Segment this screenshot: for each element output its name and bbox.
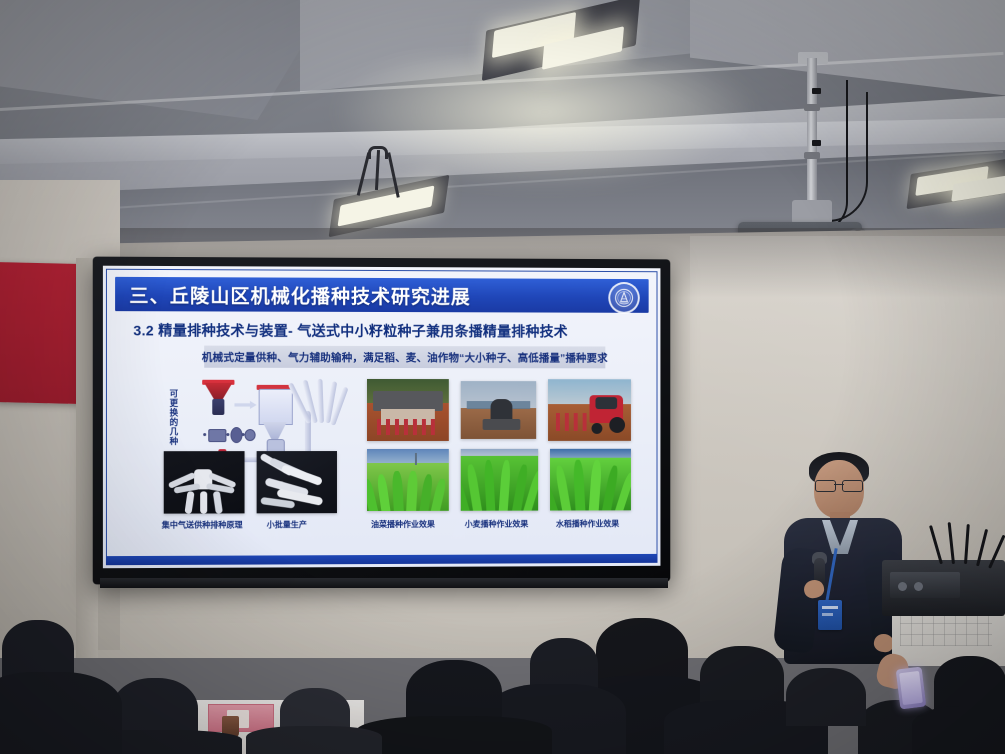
photo-caption: 小批量生产 bbox=[267, 519, 307, 530]
equipment-knob[interactable] bbox=[914, 582, 923, 591]
diagram-label: 可更换的几种 bbox=[168, 389, 179, 446]
photo-field-machine bbox=[461, 381, 536, 439]
photo-rice-field bbox=[550, 449, 631, 511]
projector-yoke bbox=[792, 200, 832, 224]
ceiling-light-glow bbox=[330, 60, 760, 190]
presentation-slide: 三、丘陵山区机械化播种技术研究进展 3.2 精量排种技术与装置- 气送式中小籽粒… bbox=[103, 266, 661, 569]
slide-banner-text: 机械式定量供种、气力辅助输种，满足稻、麦、油作物“大小种子、高低播量”播种要求 bbox=[202, 349, 608, 365]
glasses-icon bbox=[815, 480, 863, 490]
flow-arrow-icon bbox=[234, 401, 256, 409]
conference-name-badge bbox=[818, 600, 842, 630]
cable-clip bbox=[812, 140, 821, 146]
slide-title: 三、丘陵山区机械化播种技术研究进展 bbox=[129, 280, 470, 308]
distribution-tube bbox=[317, 379, 324, 423]
photo-caption: 油菜播种作业效果 bbox=[371, 519, 435, 530]
metering-roller-part bbox=[208, 429, 226, 442]
presentation-display[interactable]: 三、丘陵山区机械化播种技术研究进展 3.2 精量排种技术与装置- 气送式中小籽粒… bbox=[93, 257, 671, 585]
hopper-outlet bbox=[212, 399, 224, 415]
display-screen: 三、丘陵山区机械化播种技术研究进展 3.2 精量排种技术与装置- 气送式中小籽粒… bbox=[103, 266, 661, 569]
cable-clip bbox=[812, 88, 821, 94]
display-lower-bezel bbox=[100, 578, 668, 588]
photo-caption: 水稻播种作业效果 bbox=[556, 518, 619, 529]
diagram-dot bbox=[203, 433, 206, 436]
photo-rapeseed-field bbox=[367, 449, 449, 511]
crop-rows bbox=[367, 449, 449, 511]
slide-bottom-bar bbox=[106, 554, 658, 565]
photo-nozzles-dark bbox=[257, 451, 337, 513]
photo-caption: 集中气送供种排种原理 bbox=[162, 519, 243, 530]
equipment-knob[interactable] bbox=[898, 582, 907, 591]
seed-hopper-clear bbox=[259, 389, 293, 425]
metering-cap-part bbox=[245, 429, 256, 441]
diagram-dot bbox=[242, 433, 245, 436]
photo-red-tractor bbox=[548, 379, 631, 441]
crop-rows bbox=[550, 449, 631, 511]
hopper-cone bbox=[263, 422, 287, 440]
lecture-room-scene: 三、丘陵山区机械化播种技术研究进展 3.2 精量排种技术与装置- 气送式中小籽粒… bbox=[0, 0, 1005, 754]
audience-shoulders bbox=[356, 716, 552, 754]
smartphone-camera[interactable] bbox=[896, 667, 927, 710]
photo-wheat-field bbox=[461, 449, 538, 511]
diagram-dot bbox=[226, 433, 229, 436]
audience-shoulders bbox=[246, 726, 382, 754]
crop-rows bbox=[461, 449, 538, 511]
slide-subtitle: 3.2 精量排种技术与装置- 气送式中小籽粒种子兼用条播精量排种技术 bbox=[133, 320, 568, 341]
university-emblem-icon bbox=[608, 282, 640, 314]
audience-head bbox=[934, 656, 1005, 712]
red-wall-banner bbox=[0, 262, 80, 404]
slide-title-bar: 三、丘陵山区机械化播种技术研究进展 bbox=[115, 277, 649, 313]
seed-hopper-red bbox=[204, 383, 232, 399]
slide-banner: 机械式定量供种、气力辅助输种，满足稻、麦、油作物“大小种子、高低播量”播种要求 bbox=[204, 346, 605, 369]
photo-manifold-dark bbox=[164, 451, 245, 513]
photo-seeder-closeup bbox=[367, 379, 449, 441]
audience-head bbox=[786, 668, 866, 726]
audience-shoulders bbox=[0, 672, 122, 754]
photo-caption: 小麦播种作业效果 bbox=[465, 519, 529, 530]
audience-shoulders bbox=[912, 706, 1005, 754]
